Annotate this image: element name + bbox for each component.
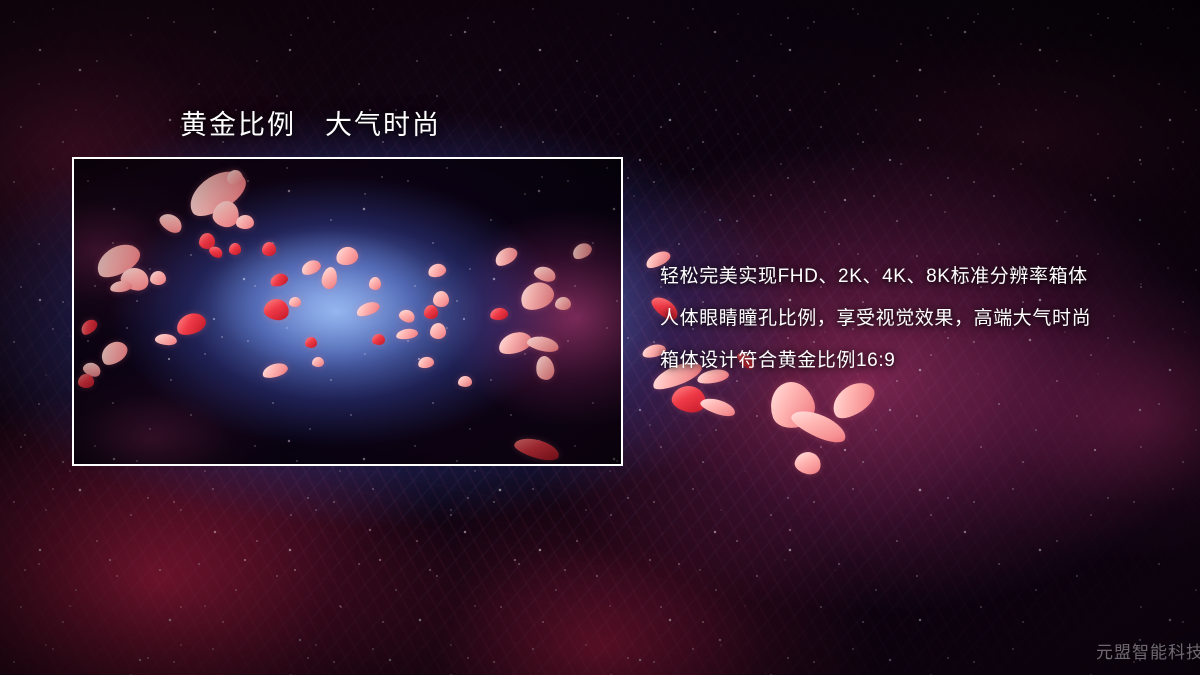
body-line: 箱体设计符合黄金比例16:9 [660, 340, 1180, 382]
watermark: 元盟智能科技 [1096, 638, 1200, 663]
framed-photo-image [74, 159, 621, 464]
framed-photo [72, 157, 623, 466]
slide-canvas: 黄金比例 大气时尚 轻松完美实现FHD、2K、4K、8K标准分辨率箱体 人体眼睛… [0, 0, 1200, 675]
body-line: 人体眼睛瞳孔比例，享受视觉效果，高端大气时尚 [660, 298, 1180, 340]
page-title: 黄金比例 大气时尚 [180, 103, 441, 142]
body-text-block: 轻松完美实现FHD、2K、4K、8K标准分辨率箱体 人体眼睛瞳孔比例，享受视觉效… [660, 256, 1180, 382]
body-line: 轻松完美实现FHD、2K、4K、8K标准分辨率箱体 [660, 256, 1180, 298]
photo-vignette [74, 159, 621, 464]
